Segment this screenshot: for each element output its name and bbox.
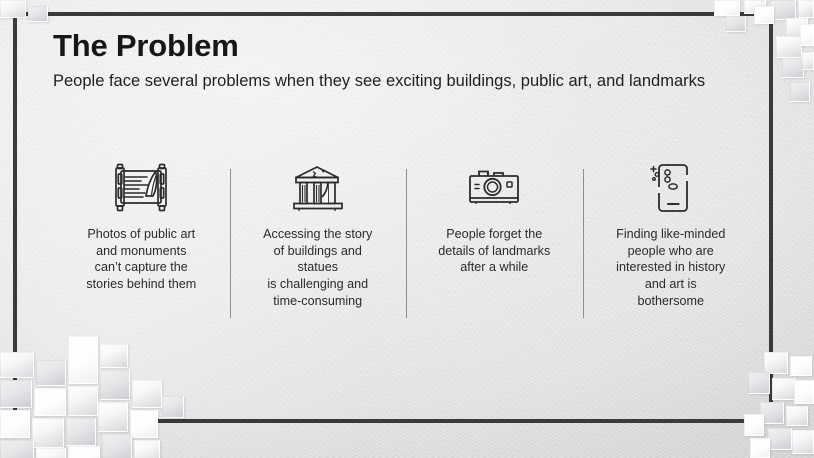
problem-column-4: Finding like-minded people who are inter… [583, 160, 760, 325]
frame-border-right [769, 12, 773, 422]
slide-header: The Problem People face several problems… [53, 28, 753, 93]
problem-text: Photos of public art and monuments can’t… [86, 226, 196, 293]
page-title: The Problem [53, 28, 753, 65]
problem-text: People forget the details of landmarks a… [438, 226, 550, 276]
camera-icon [465, 160, 523, 216]
cube-mosaic-bottom-left [0, 318, 200, 458]
monument-plaque-quill-icon [112, 160, 170, 216]
classical-ruins-columns-icon [289, 160, 347, 216]
frame-border-left [13, 12, 17, 422]
problem-columns: Photos of public art and monuments can’t… [53, 160, 759, 325]
cube-mosaic-bottom-right [688, 352, 814, 458]
problem-column-1: Photos of public art and monuments can’t… [53, 160, 230, 325]
cube-mosaic-top-left [0, 0, 60, 44]
problem-column-3: People forget the details of landmarks a… [406, 160, 583, 325]
presentation-slide: The Problem People face several problems… [0, 0, 814, 458]
problem-text: Accessing the story of buildings and sta… [263, 226, 372, 310]
page-subtitle: People face several problems when they s… [53, 70, 753, 93]
frame-border-top [13, 12, 773, 16]
problem-text: Finding like-minded people who are inter… [616, 226, 725, 310]
smartphone-sparkle-icon [642, 160, 700, 216]
frame-border-bottom [135, 419, 773, 423]
problem-column-2: Accessing the story of buildings and sta… [230, 160, 407, 325]
